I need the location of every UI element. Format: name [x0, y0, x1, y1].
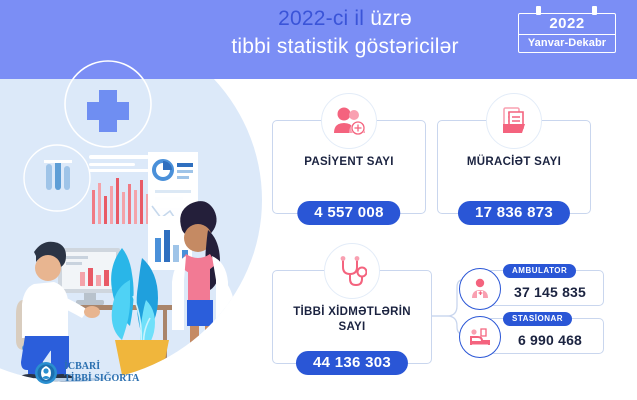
stat-card-label: MÜRACİƏT SAYI — [438, 155, 590, 170]
calendar-ring-right-icon — [592, 6, 597, 15]
sub-card-badge: AMBULATOR — [503, 264, 576, 278]
stat-card-patients[interactable]: PASİYENT SAYI 4 557 008 — [272, 120, 426, 214]
outpatient-person-icon — [459, 268, 501, 310]
sub-card-value: 37 145 835 — [501, 284, 599, 300]
stat-card-value: 44 136 303 — [296, 351, 408, 375]
stethoscope-icon — [324, 243, 380, 299]
stat-card-value: 4 557 008 — [297, 201, 400, 225]
logo-emblem-icon — [34, 361, 58, 385]
calendar-ring-left-icon — [536, 6, 541, 15]
stat-card-requests[interactable]: MÜRACİƏT SAYI 17 836 873 — [437, 120, 591, 214]
calendar-badge: 2022 Yanvar-Dekabr — [518, 6, 616, 53]
logo-text: İCBARİ TİBBİ SIĞORTA — [64, 361, 139, 385]
stat-card-value: 17 836 873 — [458, 201, 570, 225]
calendar-year: 2022 — [519, 14, 615, 35]
stat-card-services[interactable]: TİBBİ XİDMƏTLƏRİN SAYI 44 136 303 — [272, 270, 432, 364]
sub-card-ambulator[interactable]: AMBULATOR 37 145 835 — [478, 270, 604, 306]
infographic-canvas: 2022-ci il üzrə tibbi statistik göstəric… — [0, 0, 637, 400]
logo-line-1: İCBARİ — [64, 361, 139, 373]
patients-icon — [321, 93, 377, 149]
stat-card-label: PASİYENT SAYI — [273, 155, 425, 170]
hospital-bed-icon — [459, 316, 501, 358]
sub-card-value: 6 990 468 — [501, 332, 599, 348]
calendar-range: Yanvar-Dekabr — [519, 35, 615, 52]
sub-card-badge: STASİONAR — [503, 312, 572, 326]
stat-card-label: TİBBİ XİDMƏTLƏRİN SAYI — [273, 305, 431, 335]
logo-line-2: TİBBİ SIĞORTA — [64, 373, 139, 385]
calendar-rings — [518, 6, 616, 13]
company-logo: İCBARİ TİBBİ SIĞORTA — [34, 361, 139, 385]
documents-folder-icon — [486, 93, 542, 149]
sub-card-stasionar[interactable]: STASİONAR 6 990 468 — [478, 318, 604, 354]
calendar-body: 2022 Yanvar-Dekabr — [518, 13, 616, 53]
